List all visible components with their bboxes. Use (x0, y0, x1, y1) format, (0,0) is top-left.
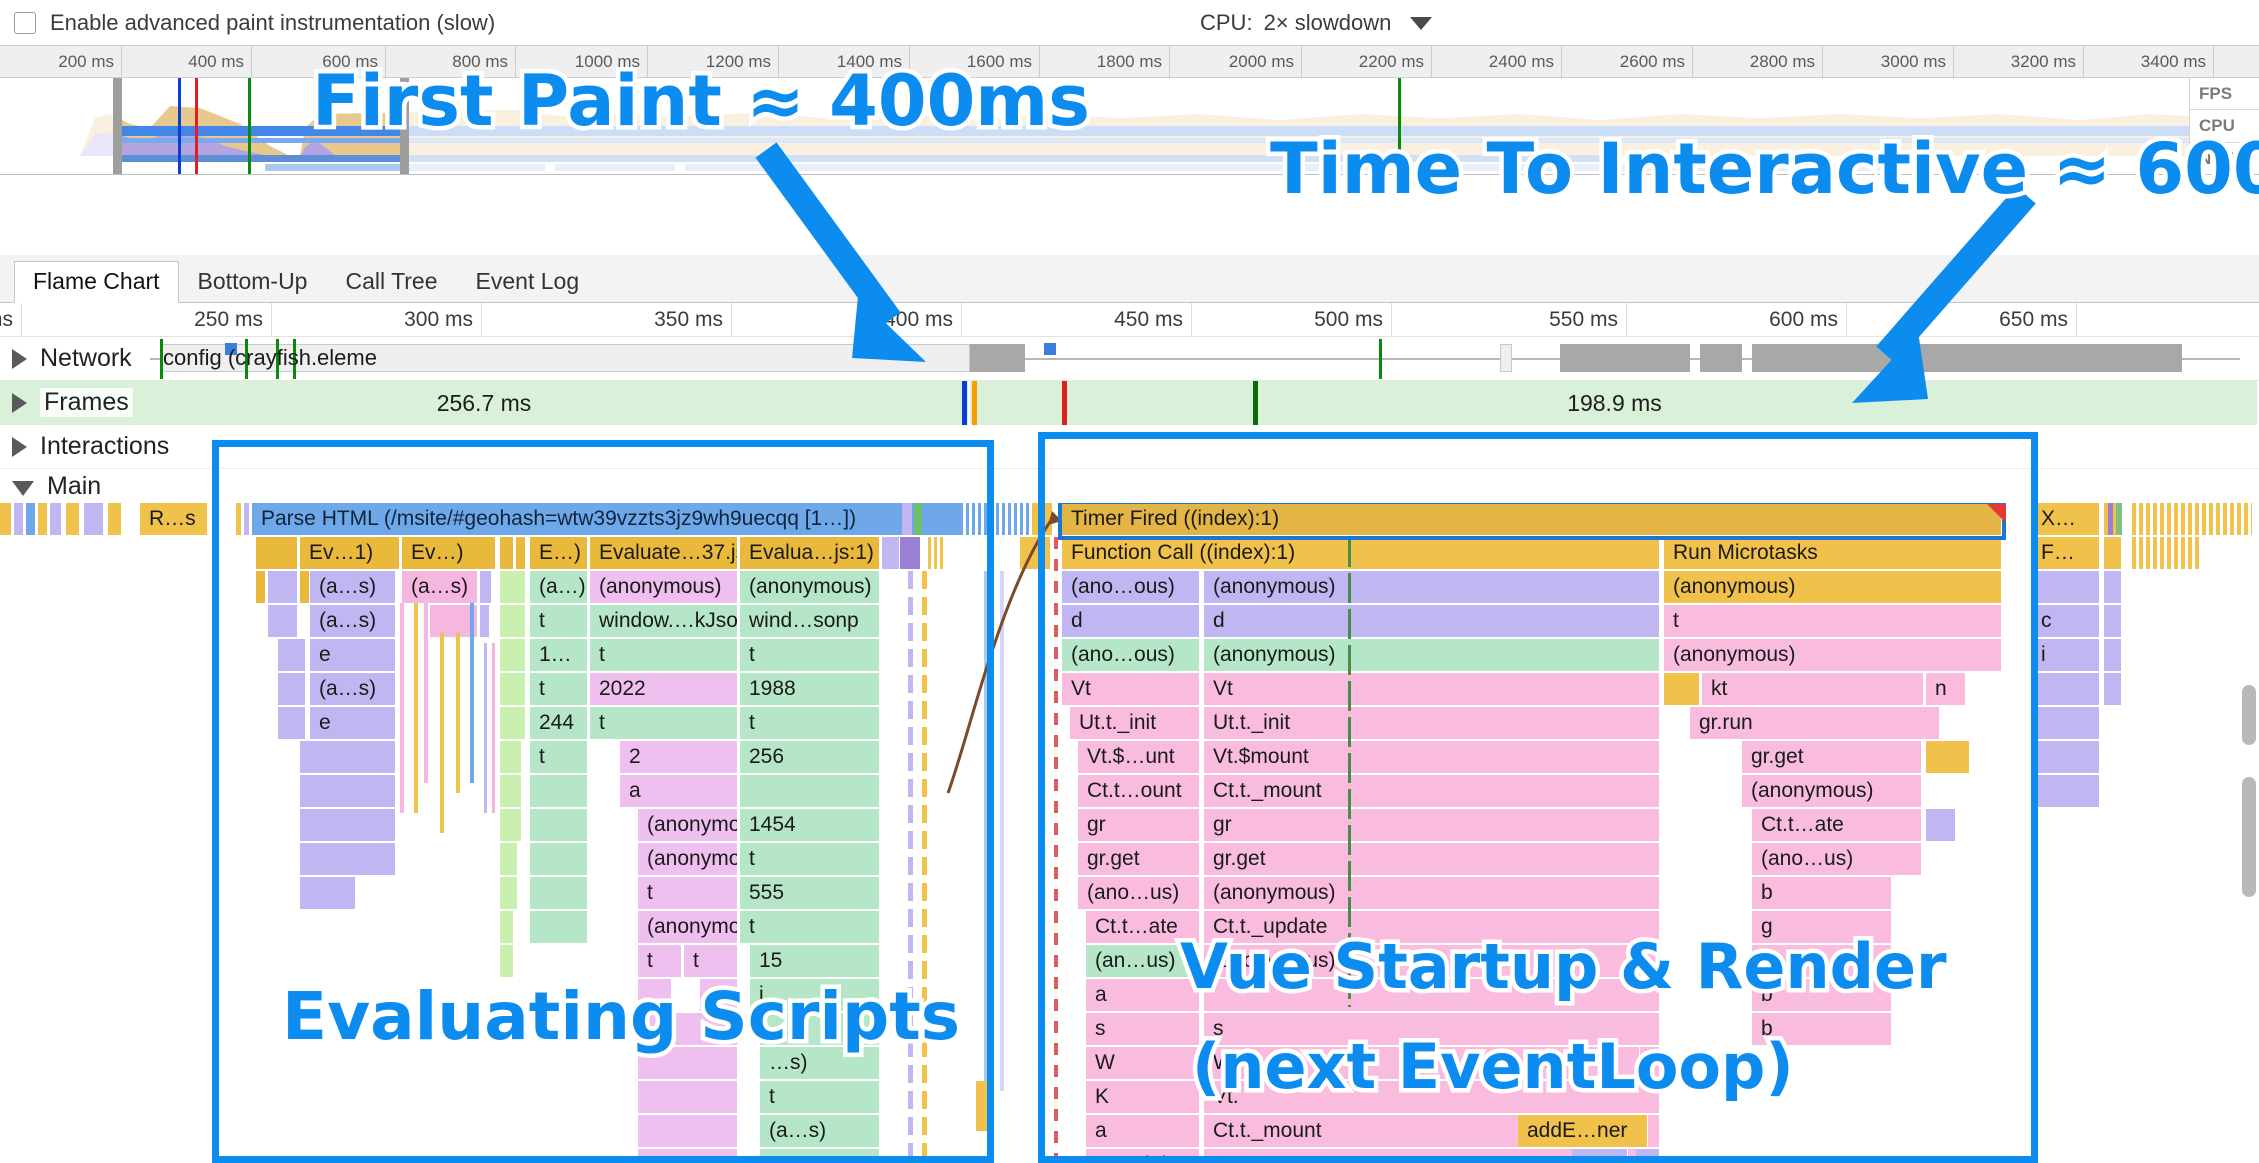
flame-bar[interactable]: (anonymous) (638, 809, 738, 841)
flame-bar[interactable] (500, 605, 526, 637)
flame-bar[interactable] (500, 843, 518, 875)
flame-bar[interactable]: t (638, 945, 682, 977)
flame-bar[interactable] (530, 809, 588, 841)
flame-bar[interactable]: (a…s) (310, 605, 396, 637)
flame-bar[interactable] (530, 911, 588, 943)
flame-sliver[interactable] (902, 503, 912, 535)
frame-marker-lcp (1062, 381, 1067, 425)
flame-bar[interactable] (0, 503, 12, 535)
flame-bar[interactable]: t (740, 911, 880, 943)
flame-bar-timer-fired[interactable]: Timer Fired ((index):1) (1062, 503, 2002, 535)
flame-sliver[interactable] (440, 633, 444, 833)
flame-bar-parse-html[interactable]: Parse HTML (/msite/#geohash=wtw39vzzts3j… (252, 503, 977, 535)
flame-sliver[interactable] (236, 503, 241, 535)
flame-bar[interactable] (530, 877, 588, 909)
flame-bar[interactable] (500, 707, 526, 739)
overview-tick: 3400 ms (2084, 46, 2214, 78)
track-label-frames: Frames (40, 388, 133, 417)
flame-bar[interactable]: gr.get (1204, 843, 1660, 875)
flame-bar[interactable] (480, 605, 490, 637)
flame-bar[interactable] (2032, 775, 2100, 807)
flame-bar[interactable] (300, 571, 310, 603)
selection-corner-icon (1987, 504, 2006, 523)
flame-bar[interactable]: 1988 (740, 673, 880, 705)
flame-bar[interactable] (268, 605, 298, 637)
flame-bar[interactable] (2032, 571, 2100, 603)
flame-sliver-group[interactable] (2132, 537, 2202, 569)
flame-bar[interactable]: window.…kJsonp (590, 605, 738, 637)
flame-bar[interactable]: gr.get (1078, 843, 1200, 875)
flame-tick: 350 ms (482, 303, 732, 337)
flame-bar[interactable]: Vt (1062, 673, 1200, 705)
flame-sliver[interactable] (484, 643, 487, 813)
flame-bar[interactable]: c (2032, 605, 2100, 637)
frame-segment[interactable]: 198.9 ms (972, 381, 2259, 425)
flame-bar[interactable]: Vt.$mount (1204, 741, 1660, 773)
annotation-evaluating-scripts-text: Evaluating Scripts (282, 978, 960, 1055)
flame-bar[interactable]: Vt (1204, 673, 1660, 705)
annotation-vue-startup-sub-text: (next EventLoop) (1192, 1030, 1794, 1103)
flame-bar[interactable]: F… (2032, 537, 2100, 569)
expand-triangle-icon[interactable] (12, 393, 27, 413)
flame-bar[interactable]: Function Call ((index):1) (1062, 537, 1660, 569)
flame-bar[interactable]: addE…ner (1518, 1115, 1648, 1147)
flame-bar[interactable]: gr (1204, 809, 1660, 841)
annotation-vue-startup-sub: (next EventLoop) (1192, 1030, 1794, 1103)
flame-bar[interactable]: (anonymous) (1664, 571, 2002, 603)
flame-bar[interactable] (50, 503, 62, 535)
flame-bar[interactable] (882, 537, 900, 569)
network-priority-marker (1044, 343, 1056, 355)
flame-bar[interactable] (2032, 707, 2100, 739)
track-label-main: Main (47, 472, 101, 501)
flame-sliver[interactable] (976, 1081, 992, 1131)
flame-bar[interactable]: d (1062, 605, 1200, 637)
overview-tick: 400 ms (122, 46, 252, 78)
flame-bar[interactable] (516, 537, 526, 569)
flame-bar[interactable]: i (2032, 639, 2100, 671)
flame-bar[interactable] (268, 571, 298, 603)
flame-bar[interactable]: (ano…ous) (1062, 639, 1200, 671)
flame-bar[interactable] (26, 503, 36, 535)
overview-marker-lcp (195, 78, 198, 175)
track-header-frames[interactable]: Frames (0, 381, 133, 424)
flame-bar[interactable]: (ano…ous) (1062, 571, 1200, 603)
flame-bar[interactable]: gr.get (1742, 741, 1922, 773)
flame-bar[interactable] (500, 537, 514, 569)
overview-tick: 2800 ms (1693, 46, 1823, 78)
flame-bar[interactable]: t (530, 605, 588, 637)
flame-bar[interactable] (500, 911, 514, 943)
expand-triangle-icon[interactable] (12, 437, 27, 457)
flame-bar[interactable]: wind…sonp (740, 605, 880, 637)
flame-bar[interactable] (500, 639, 526, 671)
flame-bar[interactable]: (ano…us) (1752, 843, 1922, 875)
flame-bar[interactable] (500, 945, 514, 977)
annotation-tti-text: Time To Interactive ≈ 600ms (1270, 128, 2259, 210)
flame-bar[interactable]: t (740, 843, 880, 875)
flame-bar[interactable] (300, 877, 356, 909)
flame-bar[interactable]: t (760, 1149, 880, 1163)
flame-bar[interactable]: d (1204, 605, 1660, 637)
flame-bar[interactable]: Vt.$…unt (1078, 741, 1200, 773)
flame-tick: ms (0, 303, 22, 337)
track-header-network[interactable]: Network (0, 337, 132, 380)
flame-bar[interactable] (500, 877, 518, 909)
flame-bar[interactable]: t (740, 639, 880, 671)
flame-bar[interactable] (278, 673, 306, 705)
flame-chart[interactable]: R…s Parse HTML (/msite/#geohash=wtw39vzz… (0, 503, 2259, 1163)
flame-bar[interactable] (300, 809, 396, 841)
flame-bar[interactable]: (a…s) (310, 571, 396, 603)
advanced-paint-checkbox[interactable] (14, 12, 36, 34)
overview-tick: 3000 ms (1823, 46, 1954, 78)
flame-bar[interactable]: Evalua…js:1) (740, 537, 880, 569)
flame-sliver[interactable] (470, 603, 474, 783)
flame-bar[interactable] (1664, 673, 1700, 705)
annotation-arrow-tti (1770, 175, 2060, 455)
track-header-main[interactable]: Main (0, 469, 101, 503)
overview-tick: 3200 ms (1954, 46, 2084, 78)
flame-sliver[interactable] (400, 603, 404, 813)
flame-bar[interactable]: 2022 (590, 673, 738, 705)
track-main[interactable]: Main (0, 469, 2259, 503)
flame-bar[interactable] (740, 775, 880, 807)
flame-bar[interactable]: (ano…us) (1078, 877, 1200, 909)
flame-bar[interactable]: kt (1702, 673, 1924, 705)
flame-bar[interactable]: X… (2032, 503, 2100, 535)
flame-bar[interactable]: (anonymous) (1204, 877, 1660, 909)
flame-bar[interactable]: t (1664, 605, 2002, 637)
annotation-tti: Time To Interactive ≈ 600ms (1270, 128, 2259, 210)
network-request-bar[interactable] (1500, 344, 1512, 372)
flame-bar[interactable]: t (684, 945, 738, 977)
flame-sliver[interactable] (900, 537, 920, 569)
overview-tick: 2200 ms (1302, 46, 1432, 78)
expand-triangle-icon[interactable] (12, 349, 27, 369)
flame-bar[interactable]: (anonymous) (1204, 639, 1660, 671)
track-label-interactions: Interactions (40, 432, 169, 461)
flame-bar[interactable] (500, 775, 522, 807)
flame-sliver[interactable] (244, 503, 249, 535)
flame-bar[interactable]: s (1086, 1013, 1200, 1045)
flame-bar[interactable]: (a…s) (310, 673, 396, 705)
flame-bar[interactable]: a (1086, 1115, 1200, 1147)
flame-bar[interactable] (2104, 571, 2122, 603)
flame-bar[interactable] (500, 809, 522, 841)
flame-tick: 300 ms (272, 303, 482, 337)
flame-bar[interactable]: (a…) (530, 571, 588, 603)
flame-bar[interactable] (480, 571, 492, 603)
tab-call-tree[interactable]: Call Tree (326, 261, 456, 302)
flame-bar[interactable]: Ev…) (402, 537, 496, 569)
flame-bar[interactable]: t (530, 673, 588, 705)
flame-bar[interactable]: b (1752, 877, 1892, 909)
flame-tick: 500 ms (1192, 303, 1392, 337)
flame-bar[interactable]: gr (1078, 809, 1200, 841)
flame-sliver[interactable] (414, 603, 418, 813)
flame-link-arrow-icon (940, 503, 1070, 803)
flame-bar[interactable] (1926, 809, 1956, 841)
flame-bar[interactable]: 555 (740, 877, 880, 909)
flame-bar[interactable]: E…) (530, 537, 588, 569)
flame-bar[interactable]: Ut.t._init (1070, 707, 1200, 739)
overview-tick: 2400 ms (1432, 46, 1562, 78)
flame-bar[interactable]: (anonymous) (638, 843, 738, 875)
tab-bottom-up[interactable]: Bottom-Up (179, 261, 327, 302)
flame-bar[interactable] (84, 503, 104, 535)
flame-bar[interactable] (638, 1081, 738, 1113)
flame-sliver[interactable] (914, 503, 922, 535)
flame-bar[interactable]: Ct.t._mount (1204, 775, 1660, 807)
flame-bar[interactable]: W (1086, 1047, 1200, 1079)
flame-bar[interactable] (638, 1115, 738, 1147)
flame-bar[interactable] (2104, 605, 2122, 637)
flame-bar[interactable]: a (620, 775, 738, 807)
flame-sliver[interactable] (2116, 503, 2122, 535)
flame-sliver-column[interactable] (922, 571, 927, 1161)
flame-bar[interactable]: 256 (740, 741, 880, 773)
flame-bar[interactable] (278, 707, 306, 739)
flame-bar[interactable] (1636, 1149, 1660, 1163)
flame-bar[interactable] (108, 503, 122, 535)
annotation-first-paint: First Paint ≈ 400ms (312, 60, 1090, 142)
network-marker (1379, 339, 1382, 379)
flame-bar[interactable]: t (530, 741, 588, 773)
flame-bar[interactable]: Ut.t._init (1086, 1149, 1200, 1163)
flame-bar[interactable] (2104, 673, 2122, 705)
advanced-paint-label: Enable advanced paint instrumentation (s… (50, 10, 495, 36)
flame-bar[interactable] (38, 503, 48, 535)
flame-bar[interactable]: t (740, 707, 880, 739)
flame-bar[interactable]: Ut.t._init (1204, 707, 1660, 739)
track-header-interactions[interactable]: Interactions (0, 425, 169, 468)
network-request-label: config (crayfish.eleme (163, 344, 377, 372)
flame-sliver-group[interactable] (2132, 503, 2252, 535)
flame-bar[interactable] (256, 537, 298, 569)
flame-bar[interactable] (256, 571, 266, 603)
flame-bar[interactable]: gr.run (1690, 707, 1940, 739)
flame-tick: 250 ms (22, 303, 272, 337)
overview-lane-fps: FPS (2190, 78, 2259, 110)
flame-bar[interactable]: 1… (530, 639, 588, 671)
flame-sliver[interactable] (456, 633, 460, 793)
flame-bar[interactable] (2032, 673, 2100, 705)
frame-marker-dcl (1253, 381, 1258, 425)
flame-bar[interactable]: t (590, 707, 738, 739)
overview-tick: 200 ms (0, 46, 122, 78)
flame-bar[interactable] (530, 843, 588, 875)
flame-bar[interactable] (1926, 741, 1970, 773)
flame-bar[interactable] (278, 639, 306, 671)
cpu-throttling-value[interactable]: 2× slowdown (1264, 10, 1392, 36)
annotation-vue-startup-text: Vue Startup & Render (1180, 930, 1947, 1003)
flame-bar[interactable]: (anonymous) (638, 911, 738, 943)
flame-bar[interactable]: K (1086, 1081, 1200, 1113)
flame-bar[interactable]: t (590, 639, 738, 671)
flame-bar[interactable]: n (1926, 673, 1966, 705)
flame-tick: 550 ms (1392, 303, 1627, 337)
overview-marker-fcp (178, 78, 181, 175)
flame-bar[interactable]: (anonymous) (1204, 571, 1660, 603)
flame-bar[interactable] (2104, 537, 2122, 569)
network-request-bar[interactable] (1700, 344, 1742, 372)
cpu-throttling-label: CPU: (1200, 10, 1253, 36)
toolbar: Enable advanced paint instrumentation (s… (0, 0, 2259, 46)
flame-bar[interactable] (300, 741, 396, 773)
overview-marker-dcl (248, 78, 251, 175)
flame-bar[interactable] (500, 571, 526, 603)
flame-bar[interactable]: 15 (750, 945, 880, 977)
overview-tick: 2000 ms (1170, 46, 1302, 78)
tab-event-log[interactable]: Event Log (457, 261, 599, 302)
flame-bar[interactable]: e (310, 707, 396, 739)
flame-bar[interactable]: Ev…1) (300, 537, 400, 569)
annotation-evaluating-scripts: Evaluating Scripts (282, 978, 960, 1055)
flame-bar[interactable]: Ct.t…ount (1078, 775, 1200, 807)
flame-bar[interactable]: (anonymous) (1664, 639, 2002, 671)
flame-bar[interactable]: t (638, 877, 738, 909)
flame-bar[interactable] (300, 775, 396, 807)
annotation-arrow-first-paint (740, 130, 1020, 410)
collapse-triangle-icon[interactable] (12, 481, 34, 496)
flame-bar[interactable]: Ct.t…ate (1752, 809, 1922, 841)
flame-sliver-column[interactable] (908, 571, 913, 1161)
cpu-throttling-control[interactable]: CPU: 2× slowdown (1200, 0, 1432, 46)
flame-bar[interactable] (638, 1149, 738, 1163)
flame-sliver[interactable] (2108, 503, 2113, 535)
overview-tick: 2600 ms (1562, 46, 1693, 78)
flame-bar[interactable]: (a…s) (760, 1115, 880, 1147)
flame-bar[interactable] (500, 673, 526, 705)
flame-bar[interactable]: 2 (620, 741, 738, 773)
chevron-down-icon[interactable] (1410, 17, 1432, 30)
flame-bar[interactable]: e (310, 639, 396, 671)
flame-bar[interactable]: Evaluate…37.js:1) (590, 537, 738, 569)
flame-bar[interactable] (1572, 1149, 1628, 1163)
flame-bar[interactable] (500, 741, 522, 773)
flame-bar[interactable]: 244 (530, 707, 588, 739)
vertical-scrollbar-thumb-top[interactable] (2242, 685, 2256, 745)
flame-bar[interactable]: 1454 (740, 809, 880, 841)
flame-sliver[interactable] (926, 503, 936, 535)
overview-window-handle-left[interactable] (113, 78, 122, 175)
flame-bar-prefix[interactable]: R…s (140, 503, 208, 535)
overview-shade-left (0, 78, 115, 175)
flame-bar[interactable]: (anonymous) (590, 571, 738, 603)
flame-sliver[interactable] (424, 603, 428, 783)
annotation-vue-startup: Vue Startup & Render (1180, 930, 1947, 1003)
tab-flame-chart[interactable]: Flame Chart (14, 261, 179, 303)
flame-bar[interactable] (300, 843, 396, 875)
vertical-scrollbar-thumb-bottom[interactable] (2242, 777, 2256, 897)
flame-bar[interactable]: t (760, 1081, 880, 1113)
flame-bar[interactable]: (anonymous) (740, 571, 880, 603)
flame-bar[interactable] (530, 775, 588, 807)
flame-bar[interactable] (66, 503, 80, 535)
flame-bar[interactable] (14, 503, 24, 535)
track-label-network: Network (40, 344, 132, 373)
network-request-bar[interactable] (1560, 344, 1690, 372)
flame-bar[interactable]: (a…s) (402, 571, 478, 603)
flame-bar[interactable] (2032, 741, 2100, 773)
flame-bar[interactable] (2104, 639, 2122, 671)
flame-sliver[interactable] (492, 643, 495, 813)
annotation-first-paint-text: First Paint ≈ 400ms (312, 60, 1090, 142)
flame-bar[interactable]: Run Microtasks (1664, 537, 2002, 569)
flame-bar[interactable]: (anonymous) (1742, 775, 1922, 807)
